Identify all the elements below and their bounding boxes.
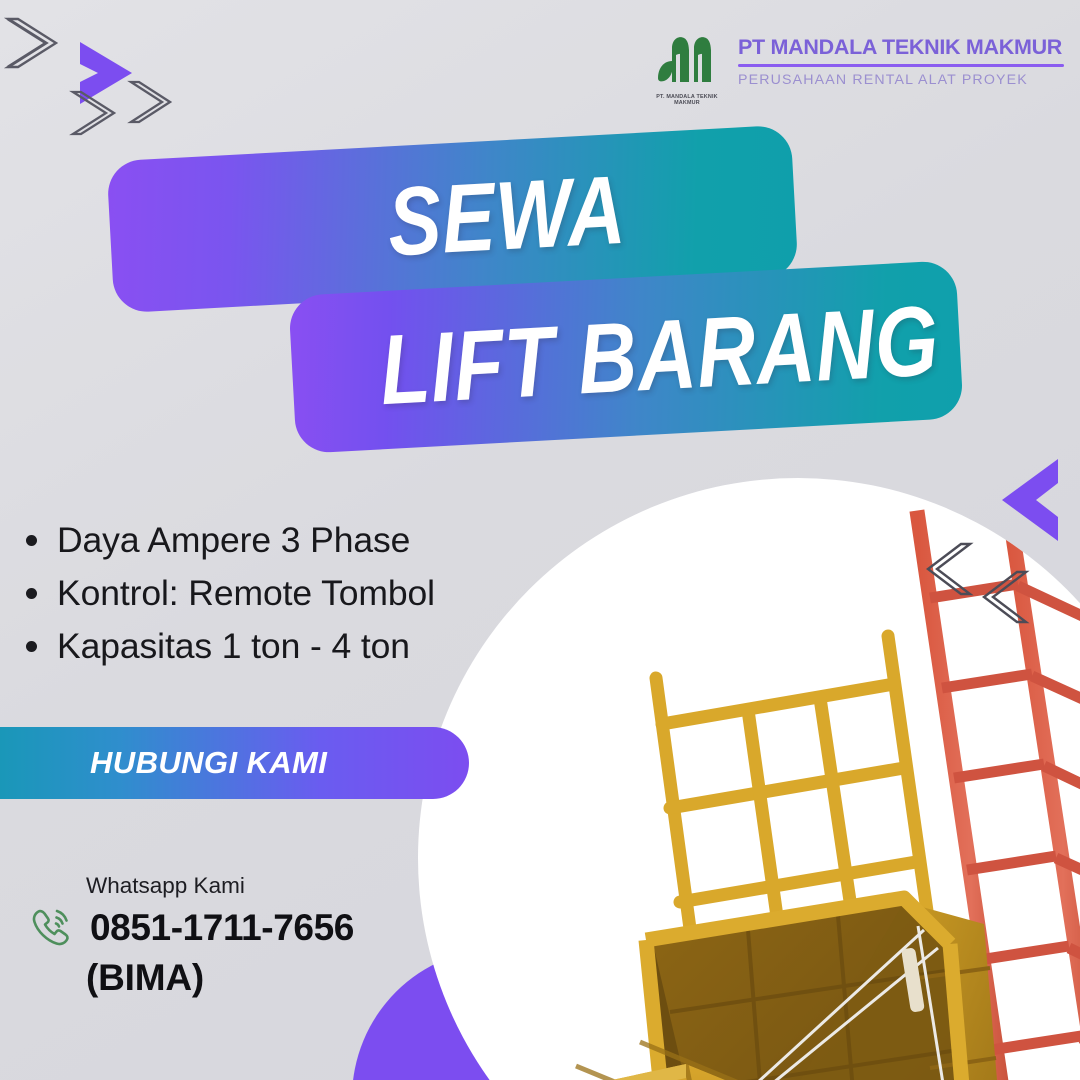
headline-line-2: LIFT BARANG [377,283,942,427]
chevron-outline-icon [920,540,976,598]
chevron-solid-icon [986,455,1066,545]
phone-number[interactable]: 0851-1711-7656 [90,907,354,949]
chevron-outline-icon [2,14,58,72]
bullet-icon [26,535,37,546]
contact-block: Whatsapp Kami 0851-1711-7656 (BIMA) [26,872,456,1002]
promotional-poster: PT. MANDALA TEKNIK MAKMUR PT MANDALA TEK… [0,0,1080,1080]
list-item: Daya Ampere 3 Phase [26,518,626,562]
contact-us-button[interactable]: HUBUNGI KAMI [0,727,469,799]
list-item: Kontrol: Remote Tombol [26,571,626,615]
bullet-icon [26,588,37,599]
logo-caption: PT. MANDALA TEKNIK MAKMUR [650,94,724,106]
feature-label: Daya Ampere 3 Phase [57,518,410,562]
brand-header: PT. MANDALA TEKNIK MAKMUR PT MANDALA TEK… [650,30,1070,120]
header-divider [738,64,1064,67]
chevron-outline-icon [976,568,1032,626]
feature-label: Kontrol: Remote Tombol [57,571,435,615]
bullet-icon [26,641,37,652]
company-name: PT MANDALA TEKNIK MAKMUR [738,36,1064,60]
contact-person-name: (BIMA) [86,954,456,1002]
contact-us-label: HUBUNGI KAMI [90,745,327,781]
mandala-m-logo-icon: PT. MANDALA TEKNIK MAKMUR [650,30,724,106]
phone-call-icon [26,902,78,954]
company-tagline: PERUSAHAAN RENTAL ALAT PROYEK [738,72,1064,88]
chevron-outline-icon [126,78,172,126]
headline-line-1: SEWA [385,154,628,279]
whatsapp-label: Whatsapp Kami [86,872,456,900]
list-item: Kapasitas 1 ton - 4 ton [26,624,626,668]
feature-label: Kapasitas 1 ton - 4 ton [57,624,410,668]
chevron-outline-icon [68,88,116,138]
feature-list: Daya Ampere 3 Phase Kontrol: Remote Tomb… [26,518,626,677]
